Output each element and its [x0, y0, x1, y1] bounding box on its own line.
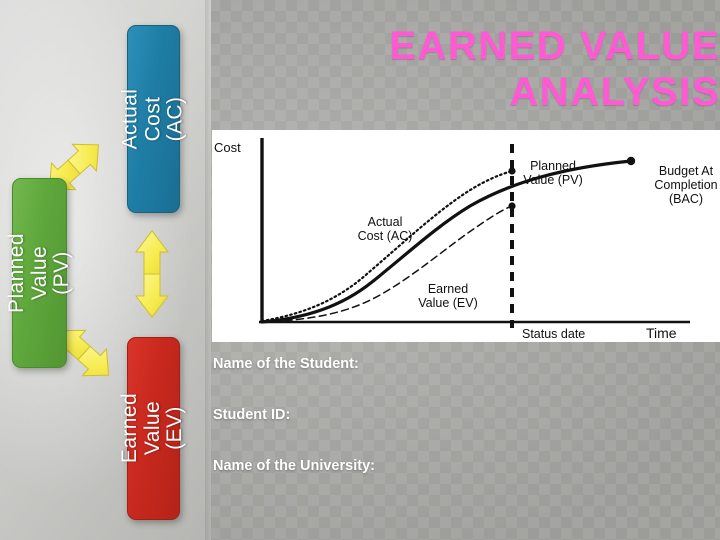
marker-ac-at-status — [508, 167, 515, 174]
connector-ac-ev-icon — [136, 231, 168, 317]
svg-text:Actual: Actual — [368, 215, 403, 229]
university-name-label: Name of the University: — [213, 458, 693, 474]
svg-text:Cost (AC): Cost (AC) — [358, 229, 413, 243]
marker-ev-at-status — [508, 202, 515, 209]
annotation-budget-at-completion: Budget At Completion (BAC) — [654, 164, 717, 206]
diagram-box-planned-value[interactable]: Planned Value (PV) — [12, 178, 67, 368]
svg-text:Completion: Completion — [654, 178, 717, 192]
student-name-label: Name of the Student: — [213, 356, 693, 372]
earned-value-chart: Cost Time Actual Cost (AC) Earned Value … — [212, 130, 720, 342]
page-title: Earned Value Analysis — [300, 24, 720, 115]
chart-xlabel: Time — [646, 325, 677, 341]
diagram-box-planned-value-label: Planned Value (PV) — [5, 233, 73, 313]
annotation-status-date: Status date — [522, 327, 585, 341]
svg-text:Planned: Planned — [530, 159, 576, 173]
svg-text:Budget At: Budget At — [659, 164, 714, 178]
earned-value-chart-svg: Cost Time Actual Cost (AC) Earned Value … — [212, 130, 720, 342]
student-info-block: Name of the Student: Student ID: Name of… — [213, 356, 693, 474]
svg-text:Value (PV): Value (PV) — [523, 173, 583, 187]
annotation-earned-value: Earned Value (EV) — [418, 282, 478, 310]
chart-ylabel: Cost — [214, 140, 241, 155]
marker-bac-point — [627, 157, 635, 165]
svg-text:Value (EV): Value (EV) — [418, 296, 478, 310]
slide-canvas: Earned Value Analysis Actual Cost (AC) — [0, 0, 720, 540]
diagram-box-actual-cost-label: Actual Cost (AC) — [120, 89, 188, 150]
svg-text:(BAC): (BAC) — [669, 192, 703, 206]
annotation-actual-cost: Actual Cost (AC) — [358, 215, 413, 243]
diagram-box-earned-value[interactable]: Earned Value (EV) — [127, 337, 180, 520]
diagram-box-earned-value-label: Earned Value (EV) — [119, 393, 187, 463]
svg-text:Earned: Earned — [428, 282, 468, 296]
annotation-planned-value: Planned Value (PV) — [523, 159, 583, 187]
diagram-box-actual-cost[interactable]: Actual Cost (AC) — [127, 25, 180, 213]
student-id-label: Student ID: — [213, 407, 693, 423]
